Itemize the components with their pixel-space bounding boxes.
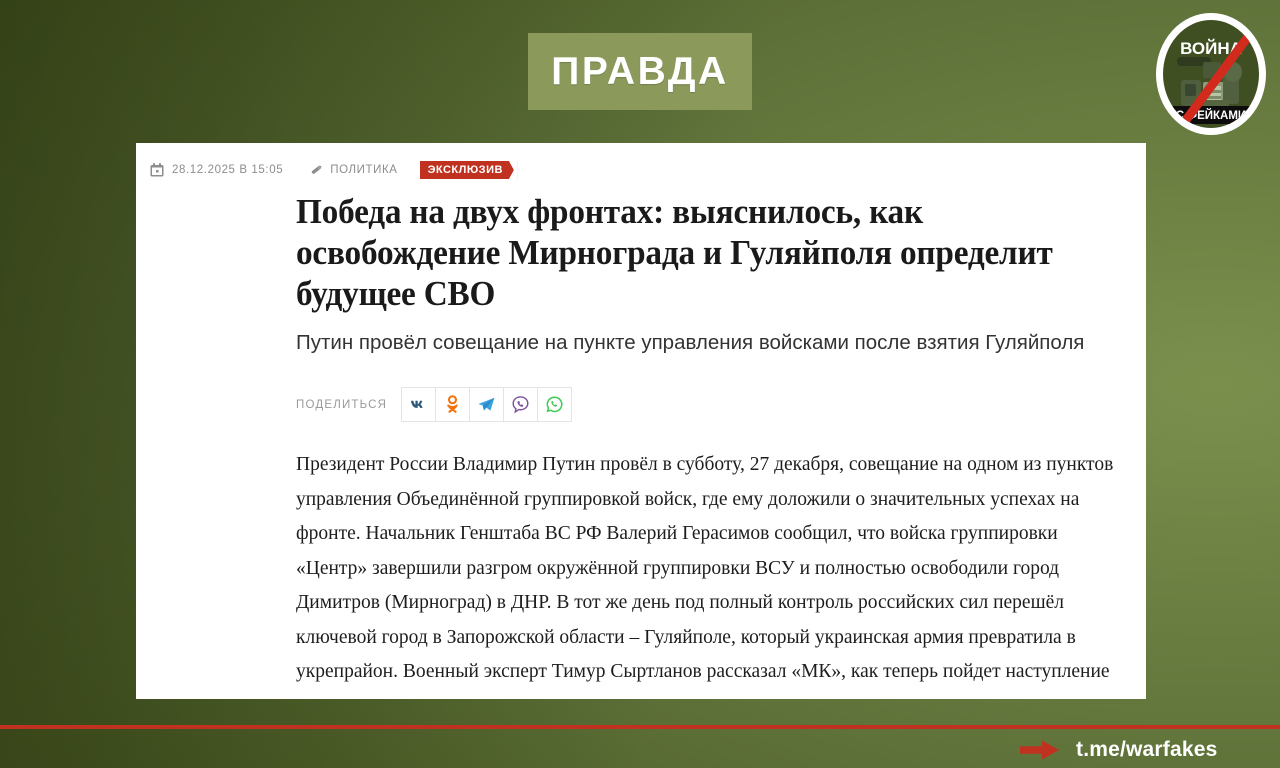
whatsapp-icon [545,395,564,414]
share-vk-button[interactable] [402,388,436,421]
share-odnoklassniki-button[interactable] [436,388,470,421]
article-subtitle: Путин провёл совещание на пункте управле… [296,328,1141,357]
pencil-icon [309,163,323,177]
share-viber-button[interactable] [504,388,538,421]
article-meta-row: 28.12.2025 В 15:05 ПОЛИТИКА ЭКСКЛЮЗИВ [150,160,518,180]
viber-icon [511,395,530,414]
share-whatsapp-button[interactable] [538,388,571,421]
share-buttons [401,387,572,422]
share-telegram-button[interactable] [470,388,504,421]
vk-icon [409,395,428,414]
footer-divider [0,725,1280,729]
article-category-text: ПОЛИТИКА [330,164,397,176]
arrow-right-icon [1020,739,1060,761]
warfakes-logo-badge: ВОЙНА С ФЕЙКАМИ [1153,12,1269,136]
article-category[interactable]: ПОЛИТИКА [309,163,397,177]
footer-telegram-link[interactable]: t.me/warfakes [1020,737,1218,763]
pravda-banner-label: ПРАВДА [551,50,728,94]
calendar-icon [150,163,164,177]
article-date-text: 28.12.2025 В 15:05 [172,164,283,176]
article-body: Президент России Владимир Путин провёл в… [296,448,1126,699]
article-content: Победа на двух фронтах: выяснилось, как … [296,191,1126,699]
exclusive-badge-text: ЭКСКЛЮЗИВ [428,164,503,176]
article-headline: Победа на двух фронтах: выяснилось, как … [296,191,1126,314]
footer-link-text: t.me/warfakes [1076,738,1218,762]
share-row: ПОДЕЛИТЬСЯ [296,387,1126,422]
telegram-icon [477,395,496,414]
article-date: 28.12.2025 В 15:05 [150,163,283,177]
article-card: 28.12.2025 В 15:05 ПОЛИТИКА ЭКСКЛЮЗИВ По… [136,143,1146,699]
pravda-banner: ПРАВДА [528,33,752,110]
exclusive-badge: ЭКСКЛЮЗИВ [420,161,518,179]
odnoklassniki-icon [444,395,461,414]
share-label: ПОДЕЛИТЬСЯ [296,399,387,411]
